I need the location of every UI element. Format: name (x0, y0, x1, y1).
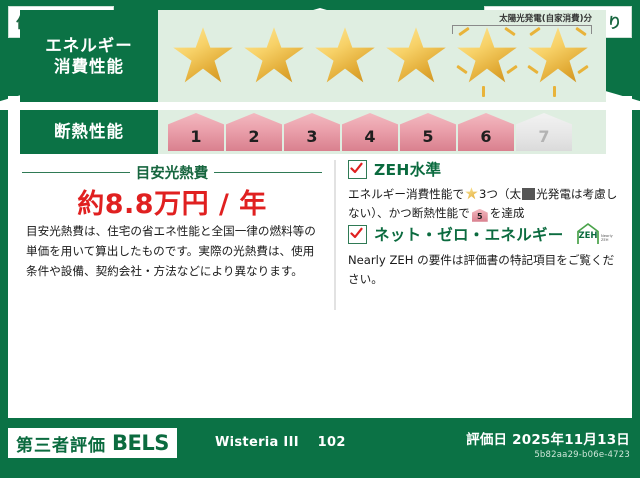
check-icon (350, 227, 363, 240)
building-identification: Wisteria III 102 (215, 435, 346, 450)
solar-sparkle-icon (504, 27, 516, 36)
insulation-level-5: 5 (400, 113, 456, 151)
energy-label-line2: 消費性能 (45, 56, 133, 77)
insulation-level-number: 3 (306, 127, 317, 151)
energy-performance-row: エネルギー 消費性能 太陽光発電(自家消費)分 (20, 10, 606, 102)
insulation-level-4: 4 (342, 113, 398, 151)
insulation-performance-label: 断熱性能 (20, 110, 158, 154)
energy-star-rating (168, 16, 593, 96)
bels-energy-label: 住宅（住戸） 再エネ設備あり 建築物省エネ法に基づく 省エネ性能ラベル エネルギ… (0, 0, 640, 478)
star-1 (168, 16, 238, 96)
energy-performance-label: エネルギー 消費性能 (20, 10, 158, 102)
net-zero-energy-block: ネット・ゼロ・エネルギー ZEH Nearly ZEH Nearly ZEH の… (348, 222, 624, 289)
solar-sparkle-icon (506, 65, 518, 74)
insulation-level-7: 7 (516, 113, 572, 151)
energy-performance-value: 太陽光発電(自家消費)分 (158, 10, 606, 102)
mini-star-icon (465, 187, 478, 200)
insulation-level-number: 6 (480, 127, 491, 151)
star-icon (314, 26, 376, 86)
star-icon (172, 26, 234, 86)
insulation-performance-row: 断熱性能 1234567 (20, 110, 606, 154)
star-icon (243, 26, 305, 86)
insulation-level-2: 2 (226, 113, 282, 151)
redacted-character (522, 188, 535, 200)
insulation-level-1: 1 (168, 113, 224, 151)
cost-note: 目安光熱費は、住宅の省エネ性能と全国一律の燃料等の単価を用いて算出したものです。… (26, 222, 322, 282)
bels-badge: 第三者評価 BELS (8, 428, 177, 458)
star-4 (381, 16, 451, 96)
svg-text:ZEH: ZEH (601, 238, 609, 242)
cost-amount: 約8.8万円 / 年 (22, 182, 322, 221)
solar-sparkle-icon (575, 27, 587, 36)
energy-label-line1: エネルギー (45, 35, 133, 56)
label-footer: 第三者評価 BELS Wisteria III 102 評価日 2025年11月… (0, 420, 640, 478)
insulation-level-number: 2 (248, 127, 259, 151)
solar-sparkle-icon (529, 27, 541, 36)
star-5 (452, 16, 522, 96)
star-icon (456, 26, 518, 86)
building-name: Wisteria III (215, 435, 299, 450)
net-zero-title: ネット・ゼロ・エネルギー (374, 223, 564, 245)
solar-sparkle-icon (482, 86, 485, 97)
star-6 (523, 16, 593, 96)
solar-sparkle-icon (458, 27, 470, 36)
net-zero-body: Nearly ZEH の要件は評価書の特記項目をご覧ください。 (348, 251, 624, 289)
insulation-level-6: 6 (458, 113, 514, 151)
solar-sparkle-icon (553, 86, 556, 97)
column-divider (334, 160, 336, 310)
zeh-standard-body: エネルギー消費性能で3つ（太光発電は考慮しない）、かつ断熱性能で5を達成 (348, 185, 624, 223)
zeh-logo: ZEH Nearly ZEH (575, 222, 615, 246)
bels-badge-jp: 第三者評価 (16, 431, 106, 456)
svg-text:ZEH: ZEH (578, 231, 597, 241)
star-icon (527, 26, 589, 86)
solar-sparkle-icon (527, 65, 539, 74)
zeh-standard-title: ZEH水準 (374, 158, 441, 180)
zeh-body-pre: エネルギー消費性能で (348, 187, 464, 201)
zeh-standard-block: ZEH水準 エネルギー消費性能で3つ（太光発電は考慮しない）、かつ断熱性能で5を… (348, 158, 624, 223)
evaluation-date: 評価日 2025年11月13日 (466, 428, 630, 448)
insulation-performance-value: 1234567 (158, 110, 606, 154)
solar-sparkle-icon (456, 65, 468, 74)
star-icon (385, 26, 447, 86)
net-zero-checkbox (348, 225, 367, 244)
cost-heading-label: 目安光熱費 (136, 162, 209, 183)
zeh-body-post: を達成 (490, 206, 525, 220)
zeh-body-mid: 3つ（太 (479, 187, 521, 201)
star-2 (239, 16, 309, 96)
star-3 (310, 16, 380, 96)
bels-badge-en: BELS (112, 431, 169, 455)
unit-number: 102 (318, 435, 346, 450)
mini-house-badge: 5 (472, 209, 488, 222)
insulation-level-3: 3 (284, 113, 340, 151)
insulation-level-number: 4 (364, 127, 375, 151)
solar-sparkle-icon (577, 65, 589, 74)
evaluation-info: 評価日 2025年11月13日 5b82aa29-b06e-4723 (466, 428, 630, 460)
check-icon (350, 162, 363, 175)
insulation-level-number: 7 (538, 127, 549, 151)
insulation-level-scale: 1234567 (168, 113, 572, 151)
evaluation-id: 5b82aa29-b06e-4723 (466, 450, 630, 460)
insulation-level-number: 1 (190, 127, 201, 151)
zeh-standard-checkbox (348, 160, 367, 179)
insulation-level-number: 5 (422, 127, 433, 151)
cost-heading: 目安光熱費 (22, 162, 322, 183)
